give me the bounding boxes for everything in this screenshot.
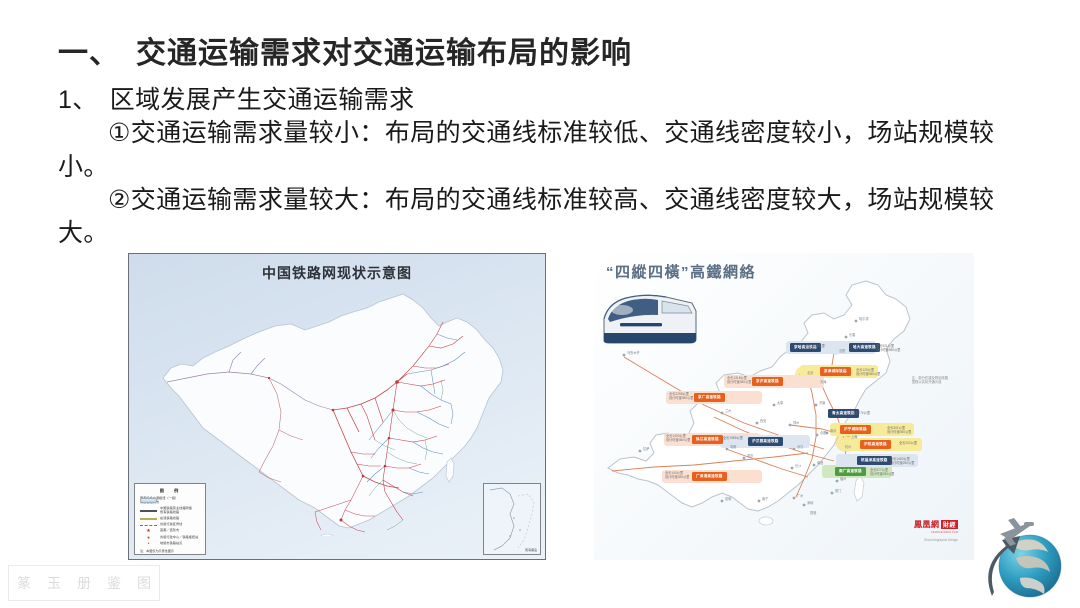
callout-sub-harbin-dalian: 全长921公里 设计时速350公里 bbox=[876, 344, 900, 352]
page-title: 一、交通运输需求对交通运输布局的影响 bbox=[58, 28, 632, 72]
callout-sub-xuzhou-lanzhou: 全长1400公里 设计时速350公里 bbox=[666, 434, 690, 442]
hsr-city-label: 西安 bbox=[760, 419, 766, 423]
callout-sub-qingdao-taiyuan: 全长770公里 bbox=[852, 411, 870, 415]
watermark-glyph: 玉 bbox=[47, 573, 61, 593]
hsr-city-label: 郑州 bbox=[793, 421, 799, 425]
hsr-city-label: 上海 bbox=[851, 435, 857, 439]
logo-sub-1: FINANCE.IFENG.COM bbox=[914, 531, 958, 534]
map-inset-south-china-sea: 南海诸岛 bbox=[483, 483, 541, 555]
hsr-city-label: 南昌 bbox=[817, 461, 823, 465]
slide: 一、交通运输需求对交通运输布局的影响 1、区域发展产生交通运输需求 ①交通运输需… bbox=[0, 0, 1080, 608]
legend-item-label: 地级市铁路站点 bbox=[160, 542, 182, 546]
map-legend-note: 注：本图仅为示意性图示 bbox=[140, 548, 201, 553]
hsr-city-label: 北京 bbox=[807, 371, 813, 375]
legend-item: 中国铁路营业线路网络 既有铁路线路 bbox=[140, 507, 201, 515]
hsr-city-label: 沈阳 bbox=[839, 349, 845, 353]
legend-key-star-icon: ★ bbox=[140, 529, 157, 533]
hsr-city-label: 长春 bbox=[849, 333, 855, 337]
logo-mark: 鳳凰網 財經 bbox=[914, 519, 958, 530]
list-item-1-sub-1: ①交通运输需求量较小：布局的交通线标准较低、交通线密度较小，场站规模较小。 bbox=[58, 117, 1028, 184]
callout-nanning-guangzhou[interactable]: 南广高速铁路 bbox=[835, 467, 866, 476]
hsr-city-label: 武汉 bbox=[797, 445, 803, 449]
legend-item: • 地级市铁路站点 bbox=[140, 542, 201, 546]
hsr-china-outline-svg bbox=[594, 253, 974, 560]
body-content: 1、区域发展产生交通运输需求 ①交通运输需求量较小：布局的交通线标准较低、交通线… bbox=[58, 84, 1028, 250]
figures-row: 中国铁路网现状示意图 bbox=[0, 250, 1080, 565]
map-inset-label: 南海诸岛 bbox=[525, 548, 537, 552]
callout-sub-shanghai-nanjing: 全长301公里 设计时速350公里 bbox=[887, 426, 911, 434]
watermark-box: 篆玉册鉴图 bbox=[8, 565, 160, 601]
map-inset-svg bbox=[484, 484, 541, 555]
hsr-city-label: 济南 bbox=[819, 401, 825, 405]
hsr-city-label: 兰州 bbox=[725, 409, 731, 413]
figure-china-railway-map: 中国铁路网现状示意图 bbox=[128, 253, 546, 560]
figure-right-note: 注：部分在建及规划线路 里程以实际开通为准 bbox=[912, 376, 948, 385]
list-item-1-number: 1、 bbox=[58, 86, 98, 114]
callout-beijing-guangzhou[interactable]: 京广高速铁路 bbox=[694, 393, 725, 402]
list-item-1-text: 区域发展产生交通运输需求 bbox=[110, 86, 415, 114]
figure-hsr-network-infographic: “四縱四橫”高鐵網絡 bbox=[594, 253, 974, 560]
callout-shanghai-wuhan-chengdu[interactable]: 沪汉蓉高速铁路 bbox=[748, 437, 783, 446]
hsr-city-label: 深圳 bbox=[807, 501, 813, 505]
globe-airplane-logo bbox=[964, 508, 1072, 604]
hsr-city-label: 哈尔滨 bbox=[859, 317, 869, 321]
hsr-city-label: 成都 bbox=[730, 445, 736, 449]
logo-mark-text: 鳳凰網 bbox=[914, 519, 940, 530]
list-item-1-sub-2: ②交通运输需求量较大：布局的交通线标准较高、交通线密度较大，场站规模较大。 bbox=[58, 184, 1028, 251]
callout-sub-beijing-tianjin: 全长120公里 设计时速350公里 bbox=[856, 368, 880, 376]
legend-key-dashed-line-icon bbox=[140, 525, 157, 526]
hsr-city-label: 昆明 bbox=[725, 497, 731, 501]
legend-key-olive-line-icon bbox=[140, 518, 157, 520]
callout-sub-nanning-guangzhou: 全长577公里 设计时速250公里 bbox=[870, 468, 894, 476]
callout-sub-beijing-shanghai: 全长1318公里 设计时速350公里 bbox=[727, 376, 751, 384]
hsr-city-label: 福州 bbox=[840, 477, 846, 481]
callout-xuzhou-lanzhou[interactable]: 徐兰高速铁路 bbox=[692, 435, 723, 444]
legend-item: ★ 首都／直辖市 bbox=[140, 529, 201, 533]
hsr-city-label: 拉萨 bbox=[643, 447, 649, 451]
hsr-city-label: 天津 bbox=[820, 380, 826, 384]
callout-sub-shanghai-chengdu: 全长1985公里 bbox=[723, 436, 743, 440]
legend-item-label: 省级行政区界线 bbox=[160, 523, 182, 527]
callout-sub-shanghai-hangzhou: 全长202公里 bbox=[899, 441, 917, 445]
legend-item-label: 在建铁路线路 bbox=[160, 517, 179, 521]
page-title-number: 一、 bbox=[58, 37, 120, 70]
legend-item: 国家综合交通枢纽（一级） 客运枢纽城市 bbox=[140, 497, 201, 505]
callout-sub-beijing-guangzhou: 全长2298公里 设计时速350公里 bbox=[669, 392, 693, 400]
legend-key-small-dot-icon: • bbox=[140, 542, 157, 546]
figure-left-title: 中国铁路网现状示意图 bbox=[129, 263, 545, 283]
hsr-city-label: 南京 bbox=[830, 429, 836, 433]
hsr-city-label: 太原 bbox=[777, 401, 783, 405]
legend-item-label: 首都／直辖市 bbox=[160, 529, 179, 533]
legend-key-band-icon bbox=[140, 498, 157, 503]
logo-sub-2: Sina Infographic Design bbox=[914, 538, 958, 542]
legend-item: 在建铁路线路 bbox=[140, 517, 201, 521]
callout-beijing-shanghai[interactable]: 京沪高速铁路 bbox=[752, 377, 783, 386]
callout-sub-hangzhou-shenzhen: 全长1450公里 设计时速250公里 bbox=[890, 457, 914, 465]
logo-mark-block: 財經 bbox=[941, 520, 958, 529]
watermark-glyph: 鉴 bbox=[107, 573, 121, 593]
hsr-city-label: 厦门 bbox=[835, 489, 841, 493]
hsr-city-label: 重庆 bbox=[747, 454, 753, 458]
callout-hangzhou-fuzhou-shenzhen[interactable]: 杭福深高速铁路 bbox=[857, 456, 892, 465]
watermark-glyph: 篆 bbox=[17, 573, 31, 593]
hsr-city-label: 南宁 bbox=[762, 497, 768, 501]
callout-shanghai-nanjing[interactable]: 沪宁城际铁路 bbox=[840, 425, 871, 434]
legend-key-line-icon bbox=[140, 510, 157, 512]
list-item-1: 1、区域发展产生交通运输需求 bbox=[58, 84, 1028, 117]
watermark-glyph: 图 bbox=[137, 573, 151, 593]
map-legend-title: 图 例 bbox=[140, 488, 201, 494]
hsr-city-label: 大连 bbox=[840, 367, 846, 371]
legend-item: 省级行政区界线 bbox=[140, 523, 201, 527]
hsr-city-label: 合肥 bbox=[820, 431, 826, 435]
hsr-city-label: 广州 bbox=[797, 494, 803, 498]
hsr-city-label: 长沙 bbox=[795, 464, 801, 468]
watermark-glyph: 册 bbox=[77, 573, 91, 593]
callout-guangzhou-shenzhen-hk[interactable]: 广深港高速铁路 bbox=[692, 472, 727, 481]
hsr-city-label: 香港 bbox=[810, 511, 816, 515]
legend-item-label: 省级行政中心／铁路枢纽站 bbox=[160, 536, 198, 540]
callout-sub-guangzhou-hk: 全长140公里 设计时速350公里 bbox=[665, 471, 689, 479]
figure-right-logo: 鳳凰網 財經 FINANCE.IFENG.COM Sina Infographi… bbox=[914, 519, 958, 542]
map-legend: 图 例 国家综合交通枢纽（一级） 客运枢纽城市 中国铁路营业线路网络 既有铁路线… bbox=[134, 483, 206, 555]
callout-shanghai-hangzhou[interactable]: 沪杭高速铁路 bbox=[860, 440, 891, 449]
callout-sub-beijing-harbin: 全长1612公里 bbox=[805, 344, 825, 348]
hsr-city-label: 乌鲁木齐 bbox=[627, 351, 640, 355]
page-title-text: 交通运输需求对交通运输布局的影响 bbox=[136, 37, 632, 70]
legend-item: ● 省级行政中心／铁路枢纽站 bbox=[140, 536, 201, 540]
legend-item-label: 中国铁路营业线路网络 既有铁路线路 bbox=[160, 507, 192, 515]
hsr-city-label: 杭州 bbox=[845, 445, 851, 449]
legend-key-dot-icon: ● bbox=[140, 536, 157, 540]
